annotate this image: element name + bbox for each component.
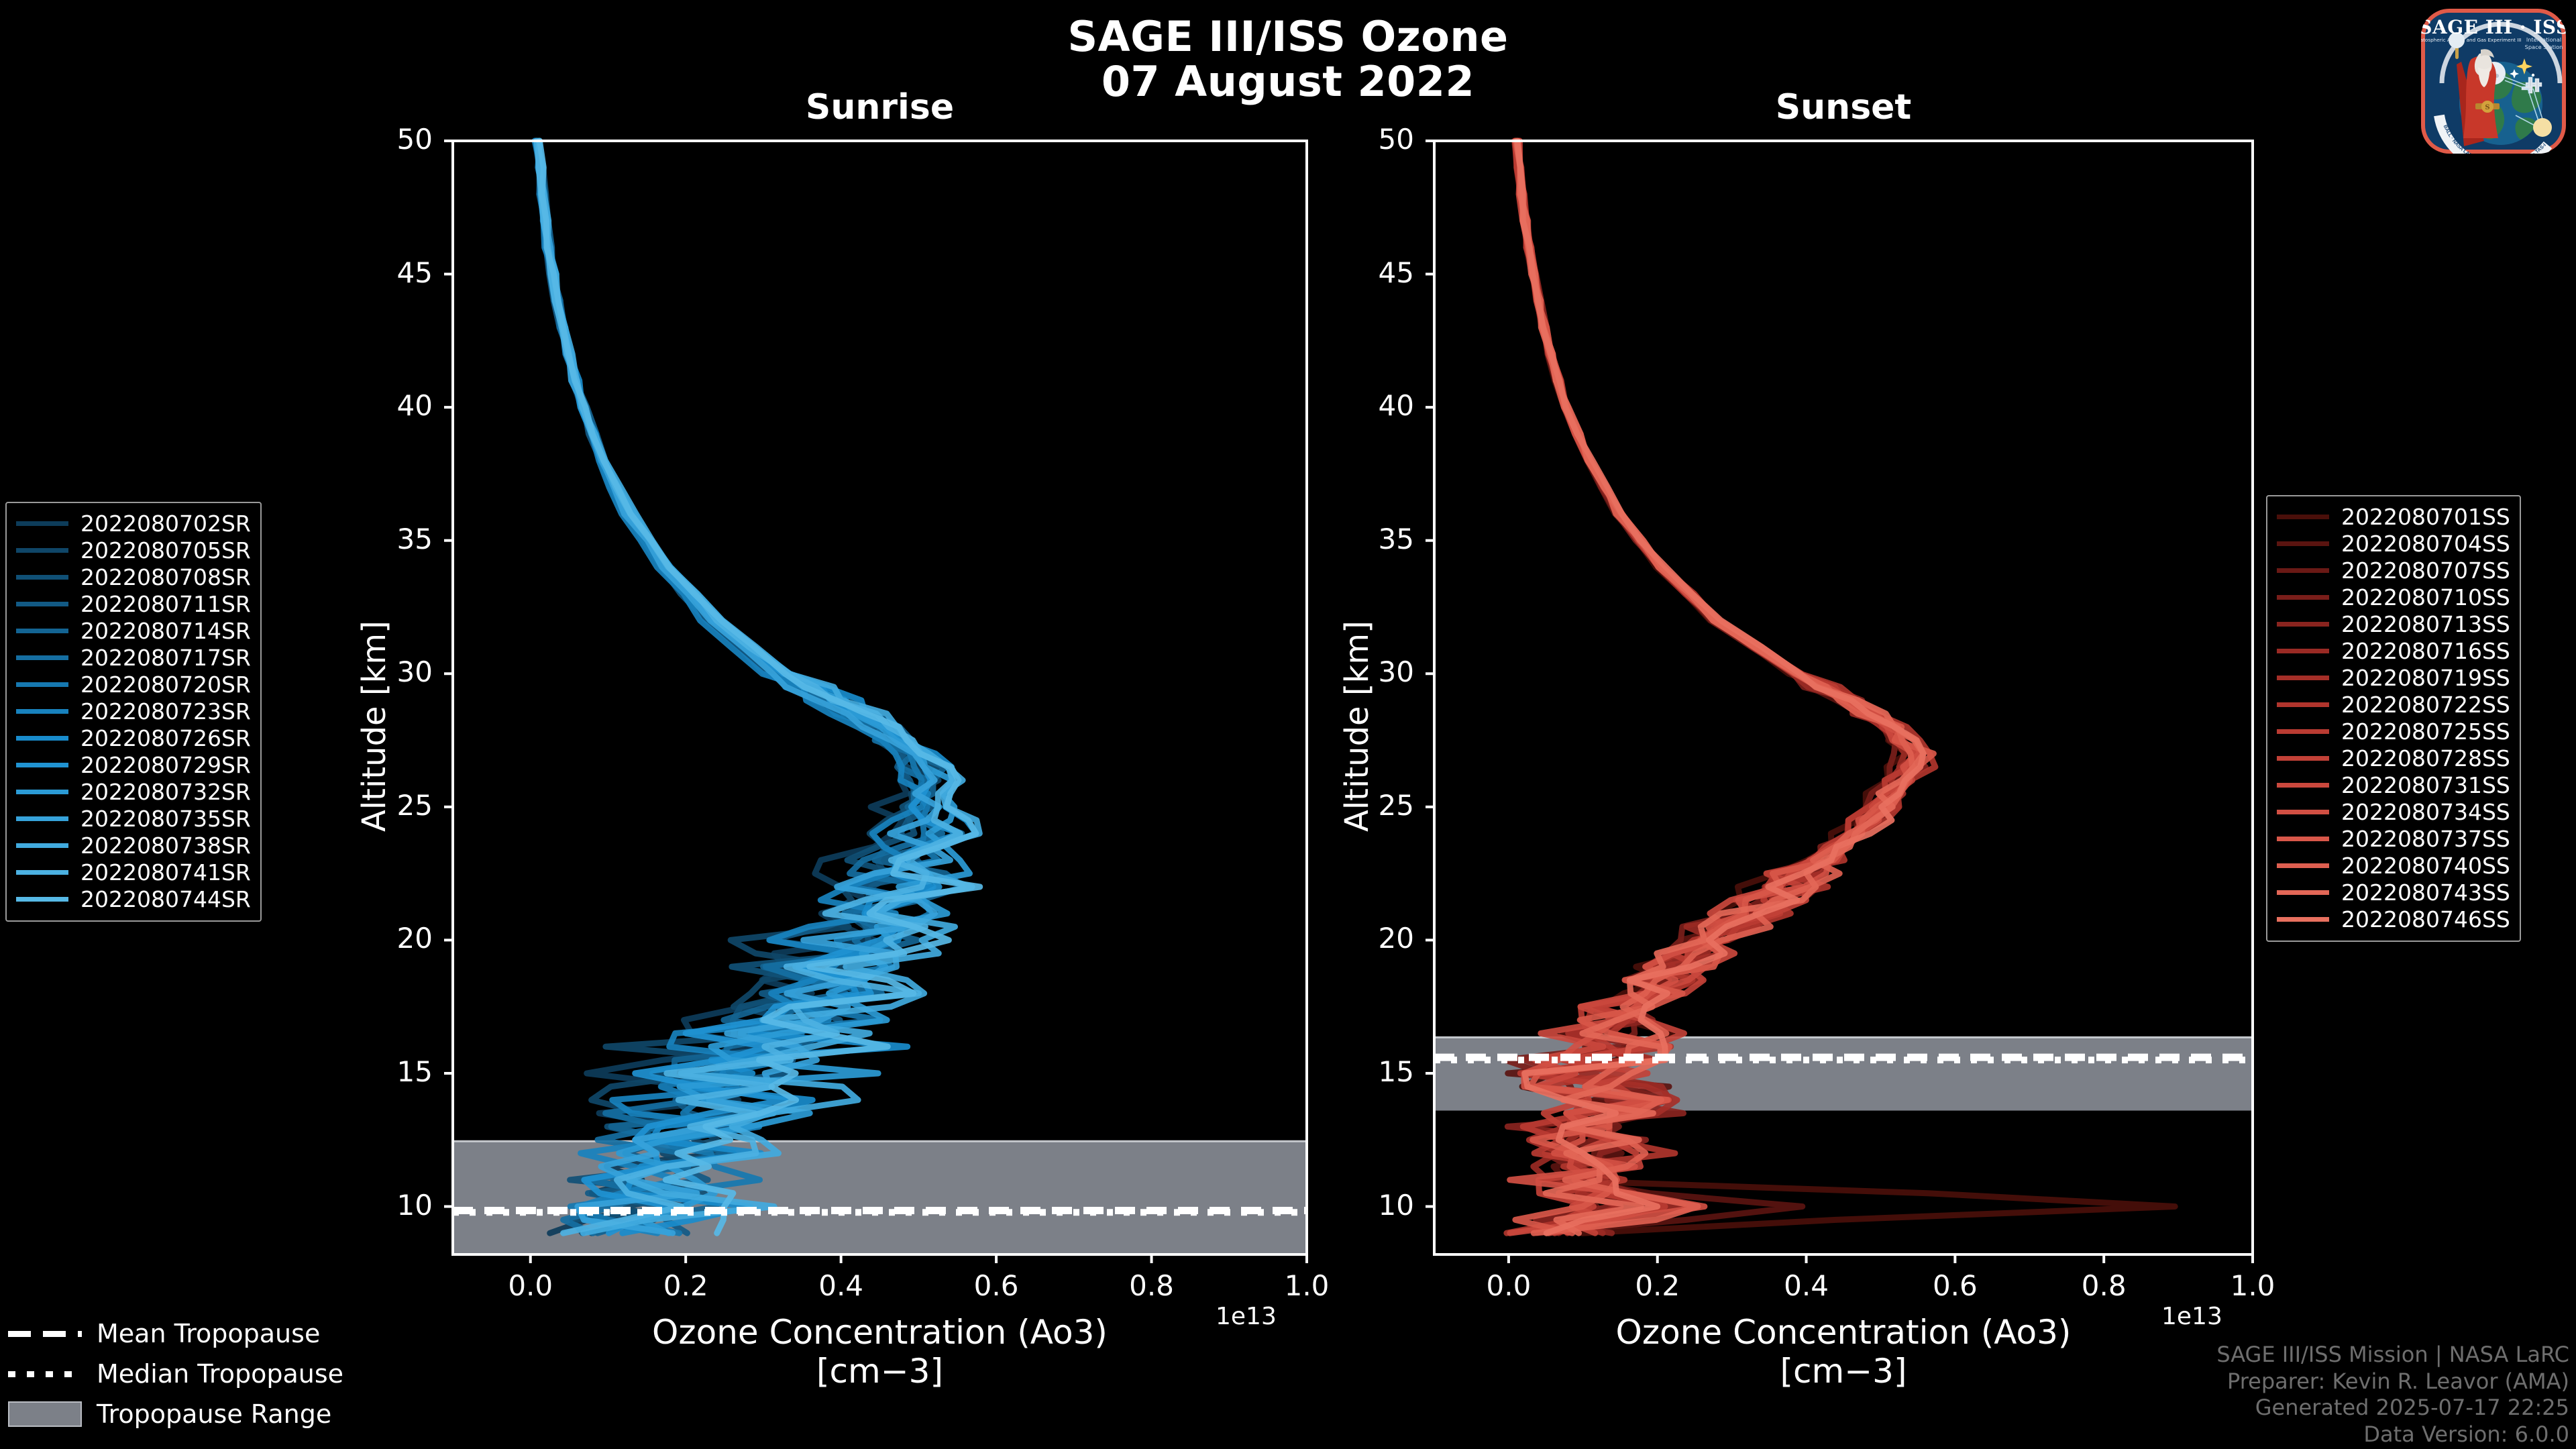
legend-item[interactable]: 2022080741SR: [16, 859, 251, 885]
axes-spine: [453, 141, 1307, 1254]
y-tick-label: 20: [1334, 922, 1414, 955]
x-tick-label: 0.4: [1753, 1269, 1860, 1302]
legend-item-label: 2022080702SR: [80, 511, 251, 537]
legend-item-label: 2022080722SS: [2341, 692, 2510, 718]
legend-color-swatch: [2277, 702, 2329, 707]
attribution-line-2: Preparer: Kevin R. Leavor (AMA): [2216, 1368, 2569, 1395]
legend-color-swatch: [16, 709, 68, 714]
attribution-line-1: SAGE III/ISS Mission | NASA LaRC: [2216, 1342, 2569, 1368]
legend-color-swatch: [2277, 729, 2329, 734]
legend-item-label: 2022080719SS: [2341, 665, 2510, 691]
legend-color-swatch: [2277, 515, 2329, 519]
legend-item[interactable]: 2022080717SR: [16, 644, 251, 671]
x-tick-label: 0.2: [632, 1269, 739, 1302]
legend-color-swatch: [16, 575, 68, 580]
legend-item[interactable]: 2022080705SR: [16, 537, 251, 563]
legend-item[interactable]: 2022080735SR: [16, 805, 251, 832]
legend-item[interactable]: 2022080743SS: [2277, 879, 2510, 906]
x-tick-label: 0.4: [788, 1269, 895, 1302]
legend-item-label: 2022080707SS: [2341, 557, 2510, 584]
legend-color-swatch: [16, 897, 68, 902]
legend-item-label: 2022080701SS: [2341, 504, 2510, 530]
x-axis-label-left-line1: Ozone Concentration (Ao3): [652, 1313, 1108, 1352]
legend-item-label: 2022080740SS: [2341, 853, 2510, 879]
dashed-line-icon: [8, 1325, 82, 1342]
legend-item-median-tropopause: Median Tropopause: [8, 1354, 343, 1394]
legend-item-label: 2022080737SS: [2341, 826, 2510, 852]
legend-color-swatch: [2277, 917, 2329, 922]
y-tick-label: 25: [352, 789, 433, 822]
legend-label-tropopause-range: Tropopause Range: [97, 1399, 331, 1429]
legend-item-label: 2022080725SS: [2341, 718, 2510, 745]
x-tick-label: 0.6: [943, 1269, 1050, 1302]
x-axis-label-right: Ozone Concentration (Ao3) [cm−3]: [1434, 1313, 2253, 1391]
x-axis-label-right-line1: Ozone Concentration (Ao3): [1616, 1313, 2072, 1352]
y-tick-label: 20: [352, 922, 433, 955]
legend-item-label: 2022080710SS: [2341, 584, 2510, 610]
legend-item-label: 2022080711SR: [80, 591, 251, 617]
legend-color-swatch: [16, 843, 68, 848]
legend-color-swatch: [2277, 649, 2329, 653]
legend-color-swatch: [2277, 863, 2329, 868]
legend-item-label: 2022080714SR: [80, 618, 251, 644]
legend-color-swatch: [16, 790, 68, 794]
legend-item-label: 2022080717SR: [80, 645, 251, 671]
legend-item-label: 2022080728SS: [2341, 745, 2510, 771]
legend-color-swatch: [2277, 676, 2329, 680]
legend-item-label: 2022080708SR: [80, 564, 251, 590]
legend-item[interactable]: 2022080725SS: [2277, 718, 2510, 745]
attribution-line-4: Data Version: 6.0.0: [2216, 1421, 2569, 1448]
legend-item[interactable]: 2022080702SR: [16, 510, 251, 537]
legend-color-swatch: [2277, 756, 2329, 761]
legend-sunrise[interactable]: 2022080702SR2022080705SR2022080708SR2022…: [5, 502, 262, 922]
x-tick-label: 0.8: [1098, 1269, 1205, 1302]
legend-item[interactable]: 2022080707SS: [2277, 557, 2510, 584]
x-tick-label: 0.0: [477, 1269, 584, 1302]
attribution-line-3: Generated 2025-07-17 22:25: [2216, 1395, 2569, 1421]
legend-item[interactable]: 2022080740SS: [2277, 852, 2510, 879]
legend-item-label: 2022080729SR: [80, 752, 251, 778]
legend-color-swatch: [2277, 890, 2329, 895]
logo-title: SAGE III · ISS: [2418, 16, 2569, 38]
y-tick-label: 15: [1334, 1055, 1414, 1088]
legend-color-swatch: [16, 655, 68, 660]
legend-item-label: 2022080732SR: [80, 779, 251, 805]
legend-item-label: 2022080704SS: [2341, 531, 2510, 557]
y-tick-label: 45: [1334, 256, 1414, 289]
y-tick-label: 45: [352, 256, 433, 289]
legend-item-label: 2022080716SS: [2341, 638, 2510, 664]
legend-item[interactable]: 2022080711SR: [16, 590, 251, 617]
x-tick-label: 0.0: [1455, 1269, 1562, 1302]
legend-item[interactable]: 2022080728SS: [2277, 745, 2510, 771]
legend-item-label: 2022080731SS: [2341, 772, 2510, 798]
y-tick-label: 40: [1334, 389, 1414, 422]
x-axis-label-left-line2: [cm−3]: [816, 1352, 943, 1391]
legend-item[interactable]: 2022080723SR: [16, 698, 251, 724]
legend-color-swatch: [2277, 541, 2329, 546]
legend-color-swatch: [2277, 810, 2329, 814]
legend-item[interactable]: 2022080726SR: [16, 724, 251, 751]
legend-label-mean-tropopause: Mean Tropopause: [97, 1319, 320, 1348]
y-tick-label: 50: [352, 123, 433, 156]
legend-item-tropopause-range: Tropopause Range: [8, 1394, 343, 1434]
legend-item[interactable]: 2022080720SR: [16, 671, 251, 698]
x-tick-label: 0.2: [1604, 1269, 1711, 1302]
legend-item-label: 2022080723SR: [80, 698, 251, 724]
legend-color-swatch: [16, 548, 68, 553]
legend-item[interactable]: 2022080701SS: [2277, 503, 2510, 530]
legend-item-label: 2022080705SR: [80, 537, 251, 563]
legend-color-swatch: [16, 629, 68, 633]
x-tick-label: 1.0: [1253, 1269, 1360, 1302]
legend-item[interactable]: 2022080738SR: [16, 832, 251, 859]
legend-item[interactable]: 2022080704SS: [2277, 530, 2510, 557]
band-swatch-icon: [8, 1405, 82, 1423]
x-tick-label: 0.8: [2050, 1269, 2157, 1302]
legend-item[interactable]: 2022080716SS: [2277, 637, 2510, 664]
legend-item-label: 2022080726SR: [80, 725, 251, 751]
legend-item[interactable]: 2022080719SS: [2277, 664, 2510, 691]
legend-color-swatch: [16, 763, 68, 767]
legend-item-label: 2022080734SS: [2341, 799, 2510, 825]
legend-item[interactable]: 2022080708SR: [16, 563, 251, 590]
legend-tropopause: Mean Tropopause Median Tropopause Tropop…: [8, 1313, 343, 1434]
legend-item[interactable]: 2022080710SS: [2277, 584, 2510, 610]
y-tick-label: 40: [352, 389, 433, 422]
legend-item[interactable]: 2022080729SR: [16, 751, 251, 778]
legend-color-swatch: [2277, 622, 2329, 627]
legend-item[interactable]: 2022080734SS: [2277, 798, 2510, 825]
legend-sunset[interactable]: 2022080701SS2022080704SS2022080707SS2022…: [2266, 495, 2521, 942]
legend-color-swatch: [2277, 837, 2329, 841]
logo-subtitle-right-2: Space Station: [2525, 44, 2563, 50]
x-axis-label-left: Ozone Concentration (Ao3) [cm−3]: [453, 1313, 1307, 1391]
legend-item[interactable]: 2022080737SS: [2277, 825, 2510, 852]
y-tick-label: 30: [1334, 655, 1414, 688]
legend-item[interactable]: 2022080713SS: [2277, 610, 2510, 637]
legend-item-label: 2022080746SS: [2341, 906, 2510, 932]
y-tick-label: 10: [352, 1189, 433, 1222]
y-tick-label: 50: [1334, 123, 1414, 156]
legend-item-label: 2022080744SR: [80, 886, 251, 912]
legend-item-label: 2022080735SR: [80, 806, 251, 832]
x-tick-label: 1.0: [2199, 1269, 2306, 1302]
x-axis-multiplier-right: 1e13: [2161, 1303, 2222, 1330]
y-tick-label: 30: [352, 655, 433, 688]
legend-item[interactable]: 2022080732SR: [16, 778, 251, 805]
logo-subtitle-right-1: International: [2526, 36, 2561, 43]
x-axis-label-right-line2: [cm−3]: [1780, 1352, 1907, 1391]
legend-color-swatch: [2277, 595, 2329, 600]
x-axis-multiplier-left: 1e13: [1216, 1303, 1277, 1330]
legend-color-swatch: [16, 602, 68, 606]
legend-color-swatch: [2277, 568, 2329, 573]
sage-iii-iss-mission-patch-logo: S BALL · NASA LANGLEY RESEARCH CENTER · …: [2415, 3, 2572, 160]
legend-item[interactable]: 2022080714SR: [16, 617, 251, 644]
legend-color-swatch: [16, 816, 68, 821]
y-tick-label: 35: [1334, 523, 1414, 555]
legend-label-median-tropopause: Median Tropopause: [97, 1359, 343, 1389]
legend-color-swatch: [16, 736, 68, 741]
legend-item[interactable]: 2022080746SS: [2277, 906, 2510, 932]
x-tick-label: 0.6: [1901, 1269, 2008, 1302]
legend-item-label: 2022080713SS: [2341, 611, 2510, 637]
y-tick-label: 10: [1334, 1189, 1414, 1222]
legend-item-label: 2022080738SR: [80, 833, 251, 859]
y-tick-label: 35: [352, 523, 433, 555]
legend-item-label: 2022080720SR: [80, 672, 251, 698]
legend-item-label: 2022080741SR: [80, 859, 251, 885]
legend-color-swatch: [16, 521, 68, 526]
attribution-block: SAGE III/ISS Mission | NASA LaRC Prepare…: [2216, 1342, 2569, 1448]
legend-color-swatch: [2277, 783, 2329, 788]
legend-color-swatch: [16, 870, 68, 875]
svg-text:S: S: [2485, 104, 2489, 111]
legend-item[interactable]: 2022080744SR: [16, 885, 251, 912]
legend-item[interactable]: 2022080722SS: [2277, 691, 2510, 718]
legend-item-mean-tropopause: Mean Tropopause: [8, 1313, 343, 1354]
y-tick-label: 25: [1334, 789, 1414, 822]
legend-item-label: 2022080743SS: [2341, 879, 2510, 906]
dotted-line-icon: [8, 1365, 82, 1383]
legend-color-swatch: [16, 682, 68, 687]
legend-item[interactable]: 2022080731SS: [2277, 771, 2510, 798]
y-tick-label: 15: [352, 1055, 433, 1088]
logo-subtitle-left: Stratospheric Aerosol and Gas Experiment…: [2415, 37, 2522, 43]
